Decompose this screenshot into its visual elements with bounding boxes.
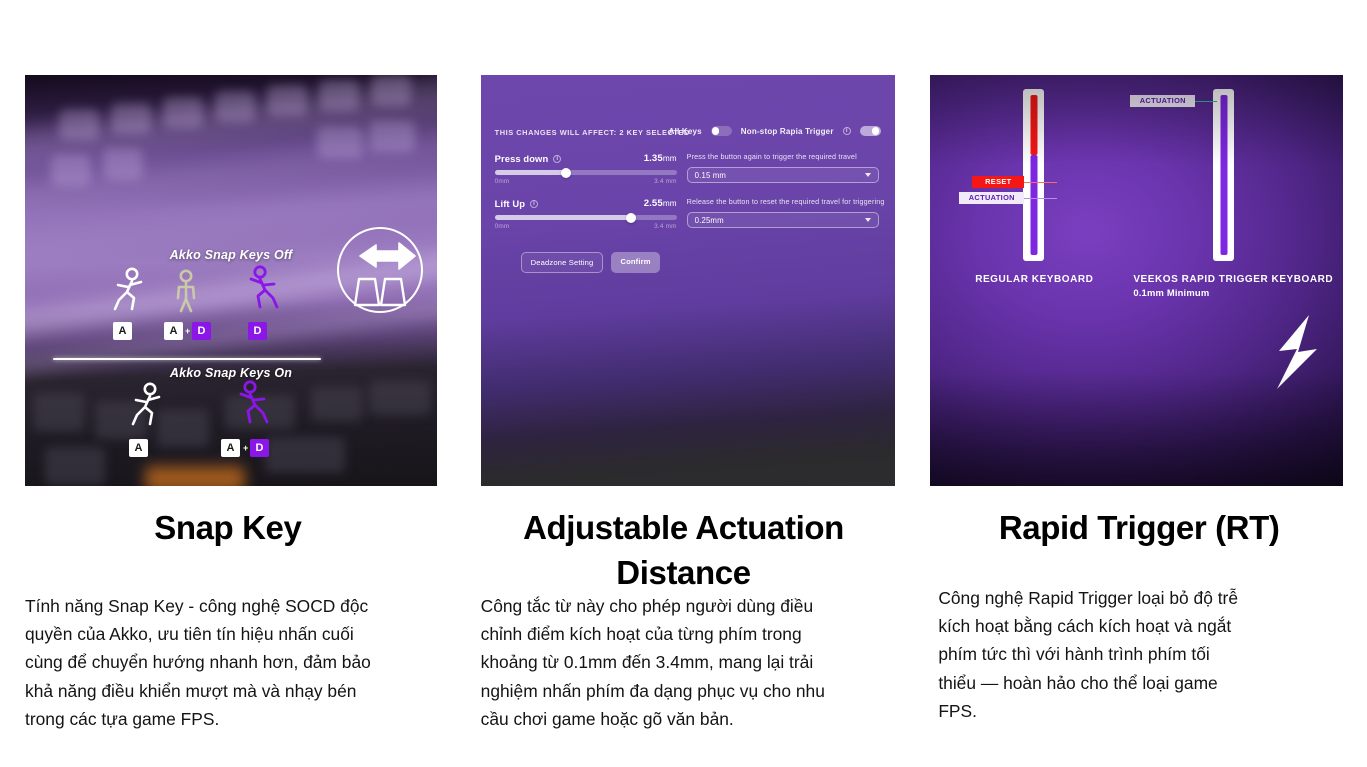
- keycap-off-d1: D: [192, 322, 211, 340]
- slider-header: Lift Up i 2.55mm: [495, 198, 677, 209]
- dark-keycap-blur: [45, 447, 105, 485]
- keycap-blur: [59, 109, 99, 140]
- nonstop-rapid-trigger-label: Non-stop Rapia Trigger: [741, 127, 834, 136]
- reset-marker-line: [1009, 182, 1057, 183]
- reset-tag: RESET: [972, 176, 1024, 188]
- keycap-blur: [267, 85, 307, 116]
- description-rapid-trigger: Công nghệ Rapid Trigger loại bỏ độ trễ k…: [938, 584, 1246, 725]
- feature-column-actuation: THIS CHANGES WILL AFFECT: 2 KEY SELECTED…: [456, 0, 912, 767]
- press-down-label: Press down: [495, 153, 549, 164]
- press-down-value-wrap: 1.35mm: [644, 153, 677, 164]
- keycap-blur: [317, 127, 363, 158]
- page-title-snap-key: Snap Key: [0, 506, 456, 551]
- press-down-label-wrap: Press down i: [495, 153, 562, 164]
- snap-key-media: Akko Snap Keys Off: [25, 75, 437, 486]
- lift-up-min-label: 0mm: [495, 223, 510, 230]
- all-keys-toggle[interactable]: [711, 126, 732, 136]
- rt-actuation-segment: [1220, 95, 1227, 255]
- press-down-value: 1.35: [644, 153, 663, 164]
- keycap-off-a2: A: [164, 322, 183, 340]
- keycap-blur: [103, 149, 143, 180]
- lift-up-unit: mm: [663, 199, 677, 208]
- trigger-travel-caption: Press the button again to trigger the re…: [687, 152, 879, 161]
- chevron-down-icon[interactable]: [865, 218, 871, 222]
- keycap-off-plus: +: [185, 327, 190, 336]
- regular-keyboard-caption: REGULAR KEYBOARD: [954, 274, 1114, 287]
- feature-column-snap-key: Akko Snap Keys Off: [0, 0, 456, 767]
- rt-caption-main: VEEKOS RAPID TRIGGER KEYBOARD: [1133, 274, 1333, 285]
- keycap-blur: [51, 155, 91, 186]
- press-down-slider-group: Press down i 1.35mm: [495, 153, 677, 185]
- description-snap-key: Tính năng Snap Key - công nghệ SOCD độc …: [25, 592, 375, 733]
- nonstop-rapid-trigger-toggle[interactable]: [860, 126, 881, 136]
- lift-up-slider-track[interactable]: [495, 215, 677, 220]
- dark-keycap-blur: [33, 393, 85, 431]
- feature-highlights-page: Akko Snap Keys Off: [0, 0, 1367, 767]
- snap-keys-divider: [53, 358, 321, 360]
- socd-arrows-icon: [335, 225, 425, 315]
- slider-range-labels: 0mm 3.4 mm: [495, 178, 677, 185]
- runner-on-purple-icon: [233, 380, 273, 428]
- lift-up-max-label: 3.4 mm: [654, 223, 677, 230]
- reset-travel-value: 0.25mm: [695, 216, 724, 225]
- keycap-blur: [215, 91, 255, 122]
- dark-keycap-blur: [369, 381, 431, 415]
- slider-fill: [495, 215, 632, 220]
- press-down-min-label: 0mm: [495, 178, 510, 185]
- lift-up-value-wrap: 2.55mm: [644, 198, 677, 209]
- runner-on-white-icon: [128, 382, 168, 430]
- software-ui-screenshot: THIS CHANGES WILL AFFECT: 2 KEY SELECTED…: [481, 75, 895, 486]
- toggle-knob: [712, 127, 719, 134]
- keycap-blur: [111, 103, 151, 134]
- slider-range-labels: 0mm 3.4 mm: [495, 223, 677, 230]
- keycap-off-d2: D: [248, 322, 267, 340]
- runner-right-purple-icon: [243, 265, 283, 313]
- trigger-travel-field: Press the button again to trigger the re…: [687, 152, 879, 183]
- dark-keycap-blur: [265, 437, 345, 473]
- reset-travel-caption: Release the button to reset the required…: [687, 197, 879, 206]
- reset-travel-select[interactable]: 0.25mm: [687, 212, 879, 228]
- actuation-settings-panel: THIS CHANGES WILL AFFECT: 2 KEY SELECTED…: [481, 128, 895, 331]
- reset-travel-field: Release the button to reset the required…: [687, 197, 879, 228]
- regular-actuation-segment: [1030, 155, 1037, 255]
- keycap-on-plus: +: [243, 444, 248, 453]
- slider-handle[interactable]: [561, 168, 571, 178]
- snap-keys-on-label: Akko Snap Keys On: [25, 366, 437, 380]
- dark-keycap-blur: [311, 387, 363, 421]
- trigger-travel-value: 0.15 mm: [695, 171, 726, 180]
- feature-columns: Akko Snap Keys Off: [0, 0, 1367, 767]
- info-icon[interactable]: i: [530, 200, 538, 208]
- press-down-unit: mm: [663, 154, 677, 163]
- chevron-down-icon[interactable]: [865, 173, 871, 177]
- all-keys-label: All Keys: [669, 127, 702, 136]
- page-title-actuation: Adjustable Actuation Distance: [456, 506, 912, 596]
- toggle-group: All Keys Non-stop Rapia Trigger i: [669, 126, 881, 136]
- keycap-blur: [319, 80, 359, 111]
- keycap-on-d1: D: [250, 439, 269, 457]
- keycap-on-a2: A: [221, 439, 240, 457]
- press-down-max-label: 3.4 mm: [654, 178, 677, 185]
- orange-accent-key: [145, 466, 245, 486]
- rt-actuation-tag: ACTUATION: [1130, 95, 1195, 107]
- keycap-on-a1: A: [129, 439, 148, 457]
- runner-middle-neutral-icon: [170, 269, 202, 315]
- action-button-row: Deadzone Setting Confirm: [521, 252, 660, 273]
- rt-actuation-marker-line: [1191, 101, 1217, 102]
- selection-headline: THIS CHANGES WILL AFFECT: 2 KEY SELECTED: [495, 128, 690, 137]
- regular-reset-segment: [1030, 95, 1037, 155]
- press-down-slider-track[interactable]: [495, 170, 677, 175]
- keycap-off-a1: A: [113, 322, 132, 340]
- lift-up-label: Lift Up: [495, 198, 525, 209]
- regular-keyboard-bar: [1023, 89, 1044, 261]
- rapid-trigger-media: RESET ACTUATION REGULAR KEYBOARD ACTUATI…: [930, 75, 1343, 486]
- actuation-marker-line: [1009, 198, 1057, 199]
- feature-column-rapid-trigger: RESET ACTUATION REGULAR KEYBOARD ACTUATI…: [911, 0, 1367, 767]
- description-actuation: Công tắc từ này cho phép người dùng điều…: [481, 592, 857, 733]
- rapid-trigger-keyboard-bar: [1213, 89, 1234, 261]
- info-icon[interactable]: i: [843, 127, 851, 135]
- rapid-trigger-diagram: RESET ACTUATION REGULAR KEYBOARD ACTUATI…: [930, 75, 1343, 486]
- deadzone-setting-button[interactable]: Deadzone Setting: [521, 252, 604, 273]
- info-icon[interactable]: i: [553, 155, 561, 163]
- keycap-blur: [371, 75, 411, 106]
- actuation-media: THIS CHANGES WILL AFFECT: 2 KEY SELECTED…: [481, 75, 895, 486]
- confirm-button[interactable]: Confirm: [611, 252, 659, 273]
- runner-left-white-icon: [110, 267, 150, 315]
- slider-header: Press down i 1.35mm: [495, 153, 677, 164]
- trigger-travel-select[interactable]: 0.15 mm: [687, 167, 879, 183]
- lift-up-value: 2.55: [644, 198, 663, 209]
- regular-actuation-tag: ACTUATION: [959, 192, 1024, 204]
- slider-fill: [495, 170, 566, 175]
- slider-handle[interactable]: [626, 213, 636, 223]
- keycap-blur: [369, 121, 415, 152]
- page-title-rapid-trigger: Rapid Trigger (RT): [911, 506, 1367, 551]
- keyboard-photo: Akko Snap Keys Off: [25, 75, 437, 486]
- lightning-bolt-icon: [1271, 315, 1325, 389]
- toggle-knob: [872, 127, 879, 134]
- keycap-blur: [163, 97, 203, 128]
- lift-up-slider-group: Lift Up i 2.55mm: [495, 198, 677, 230]
- lift-up-label-wrap: Lift Up i: [495, 198, 538, 209]
